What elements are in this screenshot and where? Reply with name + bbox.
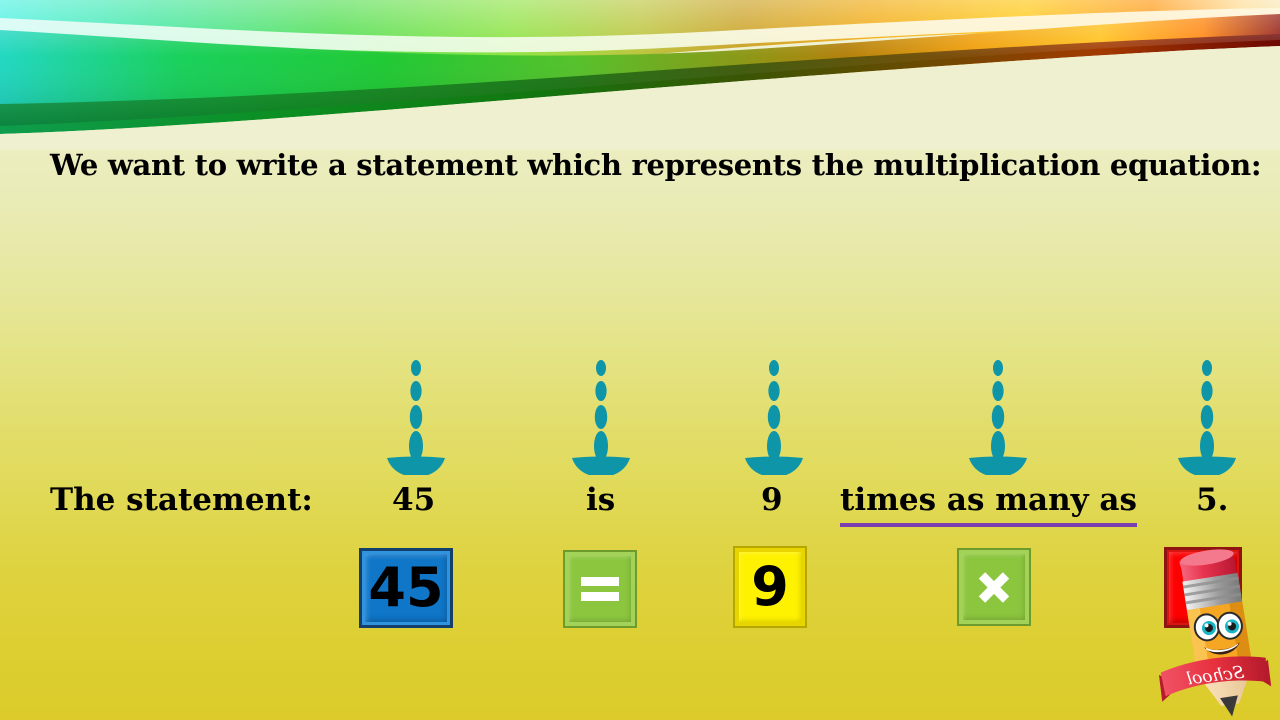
statement-word-9: 9 — [761, 478, 783, 522]
statement-word-45: 45 — [392, 478, 435, 522]
statement-word-is: is — [586, 478, 615, 522]
equation-tile-45[interactable]: 45 — [359, 548, 453, 628]
multiply-icon — [959, 550, 1029, 624]
tile-9-value: 9 — [735, 548, 805, 626]
equals-icon — [565, 552, 635, 626]
page-title: We want to write a statement which repre… — [50, 148, 1240, 182]
arrow-down-equals — [571, 355, 631, 475]
statement-word-times: times as many as — [840, 478, 1137, 527]
statement-word-5: 5. — [1196, 478, 1228, 522]
equation-tile-equals[interactable] — [563, 550, 637, 628]
arrow-down-times — [968, 355, 1028, 475]
tile-45-value: 45 — [362, 551, 450, 625]
statement-row: The statement: 45 is 9 times as many as … — [0, 478, 1280, 528]
slide-canvas: We want to write a statement which repre… — [0, 0, 1280, 720]
statement-label: The statement: — [50, 478, 313, 522]
decorative-swoosh-banner — [0, 0, 1280, 150]
equation-tile-row: 45 9 5 — [0, 272, 1280, 368]
arrow-down-9 — [744, 355, 804, 475]
arrow-group — [0, 355, 1280, 480]
pencil-character: School — [1158, 548, 1274, 720]
equals-glyph — [581, 576, 619, 602]
arrow-down-5 — [1177, 355, 1237, 475]
multiply-glyph — [977, 570, 1011, 604]
equation-tile-times[interactable] — [957, 548, 1031, 626]
equation-tile-9[interactable]: 9 — [733, 546, 807, 628]
arrow-down-45 — [386, 355, 446, 475]
